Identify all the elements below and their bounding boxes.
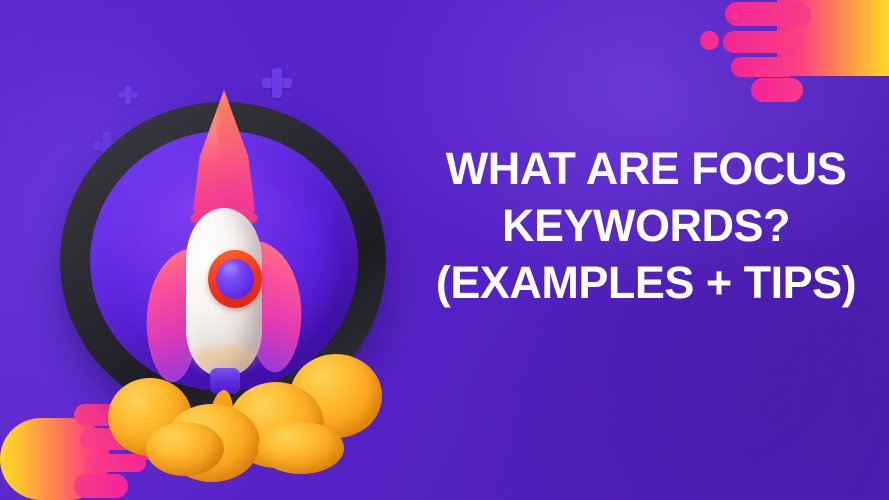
rocket-illustration (52, 92, 402, 432)
burst-pill (74, 474, 128, 498)
gradient-burst-top-right-icon (699, 0, 889, 110)
title-line-1: WHAT ARE FOCUS (420, 140, 872, 197)
banner-canvas: WHAT ARE FOCUS KEYWORDS? (EXAMPLES + TIP… (0, 0, 889, 500)
burst-dot (731, 12, 739, 20)
smoke-blob (258, 422, 344, 474)
burst-dot (700, 31, 719, 50)
burst-pill (731, 57, 797, 77)
title-line-3: (EXAMPLES + TIPS) (420, 254, 872, 311)
exhaust-smoke (52, 92, 402, 432)
burst-pill (751, 78, 803, 102)
burst-pill (86, 454, 146, 472)
page-title: WHAT ARE FOCUS KEYWORDS? (EXAMPLES + TIP… (420, 140, 872, 311)
title-line-2: KEYWORDS? (420, 197, 872, 254)
burst-pill (723, 31, 801, 53)
smoke-blob (146, 422, 224, 476)
